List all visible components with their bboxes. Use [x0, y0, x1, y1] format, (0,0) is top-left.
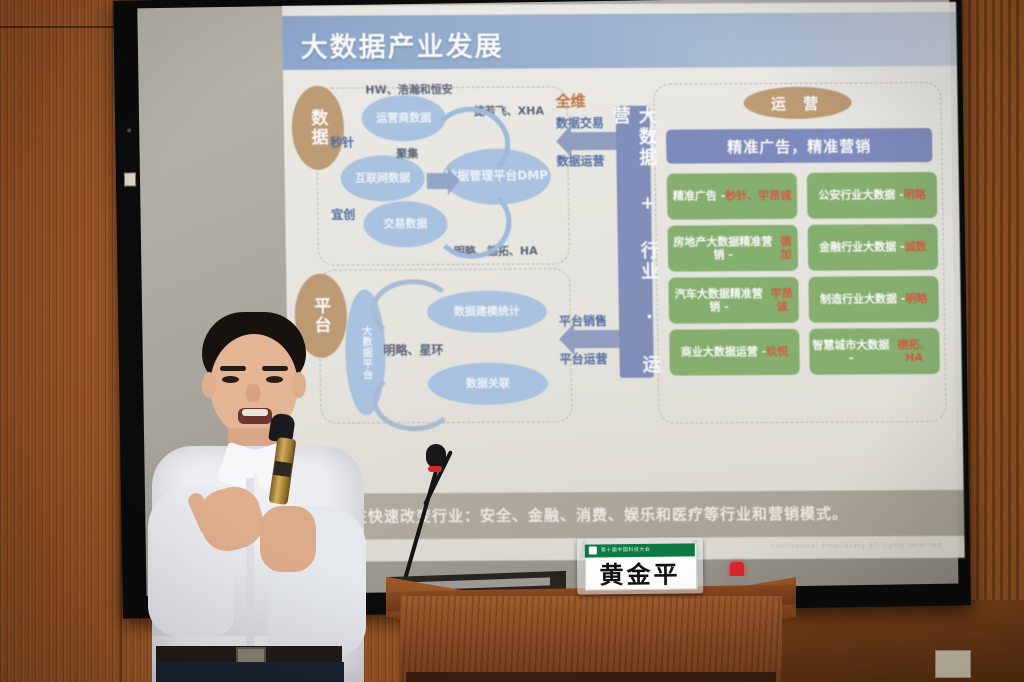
- slide-footnote: Confidential Proprietary All rights rese…: [770, 542, 942, 550]
- presenter-ear-left: [202, 372, 216, 398]
- presenter-hand-right: [260, 506, 316, 572]
- operation-box: 商业大数据运营 - 玖悦: [669, 329, 800, 376]
- operation-box: 房地产大数据精准营销 - 德加: [667, 225, 798, 272]
- operation-box-highlight: 秒针、宇昂诚: [725, 189, 791, 203]
- center-arrow-top-lower-label: 数据运营: [556, 152, 604, 169]
- operation-box-text: 公安行业大数据 -: [818, 189, 904, 203]
- slide-title: 大数据产业发展: [300, 25, 504, 65]
- presenter-nose: [246, 384, 260, 402]
- operation-box-highlight: 明略: [905, 292, 927, 305]
- operation-box-text: 智慧城市大数据 -: [811, 338, 890, 365]
- operation-box-text: 金融行业大数据 -: [819, 241, 905, 255]
- operation-box-highlight: 玖悦: [766, 345, 788, 358]
- operation-box-highlight: 宇昂诚: [767, 287, 797, 314]
- operation-box-text: 商业大数据运营 -: [681, 345, 767, 359]
- operation-box-text: 房地产大数据精准营销 -: [670, 235, 777, 262]
- center-vertical-bar: 大数据 + 行业 · 运营: [616, 106, 654, 378]
- presenter-eye-right: [266, 376, 283, 383]
- presenter-teeth: [242, 409, 268, 416]
- podium-front-panel: [400, 596, 782, 682]
- operation-box-highlight: 德加: [776, 235, 796, 261]
- data-category-oval: 数据: [291, 86, 344, 170]
- nameplate-header-text: 第十届中国科技大会: [601, 546, 651, 554]
- operation-box-text: 制造行业大数据 -: [820, 293, 906, 307]
- podium-base: [406, 672, 776, 682]
- projected-slide: 大数据产业发展 数据 平台 HW、浩瀚和恒安 捷若飞、XHA 明略、德拓、HA …: [282, 2, 965, 562]
- platform-curve-top: [370, 279, 455, 342]
- operation-box-highlight: 诚数: [904, 240, 926, 253]
- gooseneck-microphone-capsule: [426, 444, 446, 468]
- label-yichuang: 宜创: [331, 206, 355, 223]
- slide-footer-text: 数据正在快速改变行业：安全、金融、消费、娱乐和医疗等行业和营销模式。: [304, 503, 848, 527]
- presenter-brow-right: [262, 366, 288, 371]
- screen-control-button[interactable]: [124, 172, 136, 186]
- nameplate-logo-icon: [589, 546, 597, 554]
- presenter-eye-left: [222, 376, 239, 383]
- presenter-brow-left: [220, 366, 246, 371]
- operation-box: 制造行业大数据 - 明略: [808, 276, 939, 323]
- lower-right-wood-panel: [780, 600, 1024, 682]
- operation-box: 智慧城市大数据 - 德拓、HA: [809, 328, 940, 375]
- operation-box: 精准广告 - 秒针、宇昂诚: [667, 173, 798, 220]
- presenter: [118, 310, 378, 682]
- handheld-microphone-grip-band: [273, 461, 292, 477]
- red-indicator-light-base: [729, 576, 745, 584]
- platform-note: 明略、星环: [383, 341, 443, 358]
- curve-arrow-top: [430, 107, 511, 181]
- label-aggregate: 聚集: [396, 145, 418, 161]
- nameplate-name: 黄金平: [585, 556, 695, 588]
- operation-box: 公安行业大数据 - 明略: [807, 172, 938, 219]
- presenter-ear-right: [292, 372, 306, 398]
- label-miaozhen: 秒针: [330, 134, 354, 151]
- platform-curve-bottom: [372, 369, 457, 432]
- curve-arrow-bottom: [431, 185, 512, 259]
- operation-box-highlight: 德拓、HA: [890, 338, 937, 365]
- slide-body: 数据 平台 HW、浩瀚和恒安 捷若飞、XHA 明略、德拓、HA 运营商数据 互联…: [283, 70, 964, 494]
- wall-outlet: [935, 650, 971, 678]
- aggregate-arrow: [427, 173, 449, 189]
- screen-mount-dot: [127, 128, 131, 132]
- operation-box: 金融行业大数据 - 诚数: [808, 224, 939, 271]
- operation-box-text: 汽车大数据精准营销 -: [670, 287, 767, 314]
- nameplate: 第十届中国科技大会 黄金平: [577, 537, 704, 594]
- operation-banner: 精准广告，精准营销: [666, 128, 933, 164]
- center-arrow-bottom-lower-label: 平台运营: [559, 350, 607, 367]
- lecture-hall-photo: 大数据产业发展 数据 平台 HW、浩瀚和恒安 捷若飞、XHA 明略、德拓、HA …: [0, 0, 1024, 682]
- operation-box-highlight: 明略: [904, 188, 926, 201]
- operation-box-text: 精准广告 -: [673, 190, 726, 204]
- center-label-quanwei: 全维: [555, 90, 585, 111]
- gooseneck-microphone-red-ring: [428, 466, 442, 472]
- presenter-trousers: [156, 662, 344, 682]
- operation-box: 汽车大数据精准营销 - 宇昂诚: [668, 277, 799, 324]
